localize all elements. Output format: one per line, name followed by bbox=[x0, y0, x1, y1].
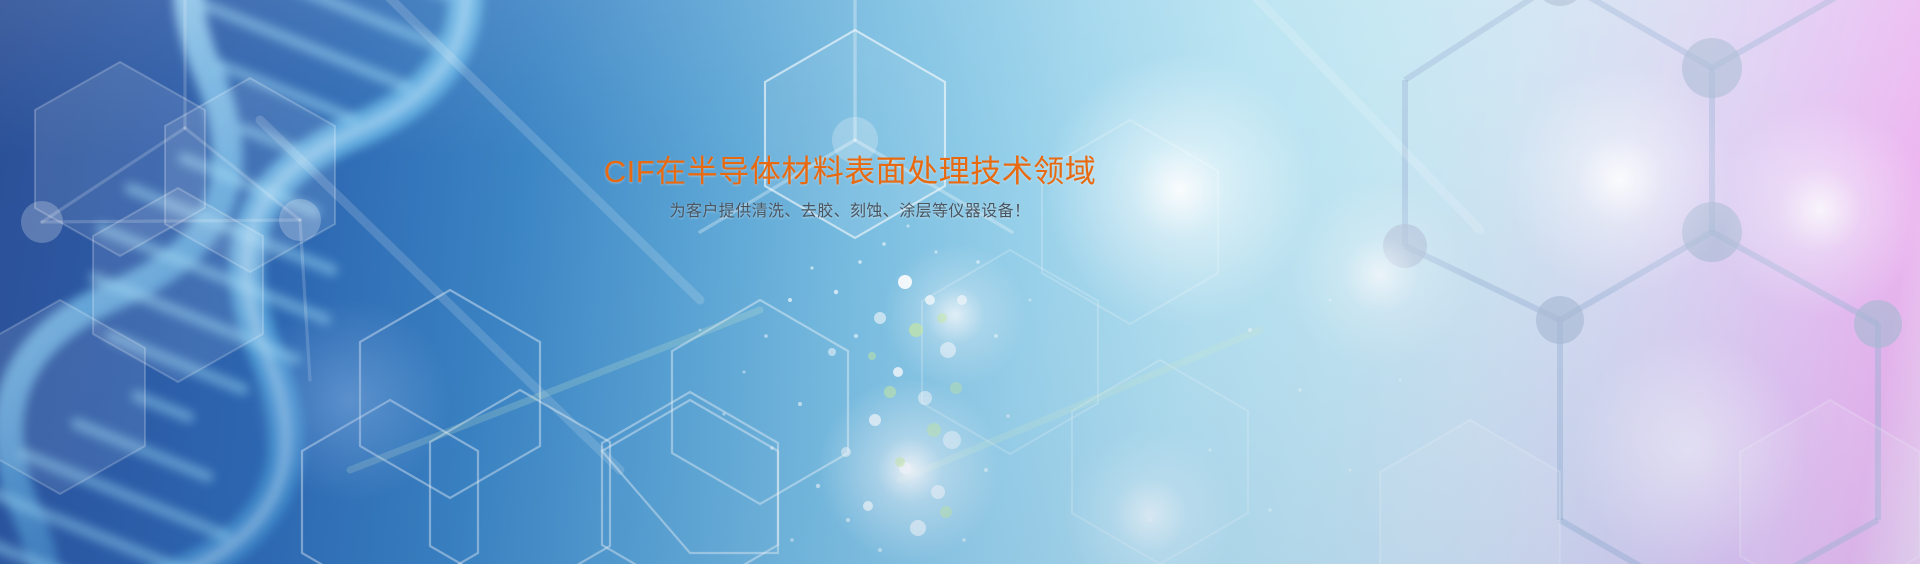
light-flare-2 bbox=[1490, 60, 1750, 300]
banner-subline: 为客户提供清洗、去胶、刻蚀、涂层等仪器设备！ bbox=[0, 200, 1920, 224]
light-flare-4 bbox=[1280, 180, 1480, 370]
light-flare-5 bbox=[800, 370, 1020, 564]
light-flare-1 bbox=[1020, 40, 1340, 340]
light-flare-6 bbox=[880, 240, 1030, 390]
light-flare-8 bbox=[240, 300, 460, 500]
banner-headline: CIF在半导体材料表面处理技术领域 bbox=[0, 152, 1920, 192]
vertical-tint-overlay bbox=[0, 0, 1920, 564]
light-flare-7 bbox=[1060, 430, 1240, 564]
light-flare-3 bbox=[1700, 100, 1920, 320]
light-flare-9 bbox=[1560, 330, 1820, 564]
hero-banner: .hexFill { fill:#ffffff; fill-opacity:.0… bbox=[0, 0, 1920, 564]
dna-helix-graphic bbox=[0, 0, 1920, 564]
hexagon-network-graphic: .hexFill { fill:#ffffff; fill-opacity:.0… bbox=[0, 0, 1920, 564]
particle-cluster-graphic bbox=[0, 0, 1920, 564]
banner-copy: CIF在半导体材料表面处理技术领域 为客户提供清洗、去胶、刻蚀、涂层等仪器设备！ bbox=[0, 0, 1920, 564]
